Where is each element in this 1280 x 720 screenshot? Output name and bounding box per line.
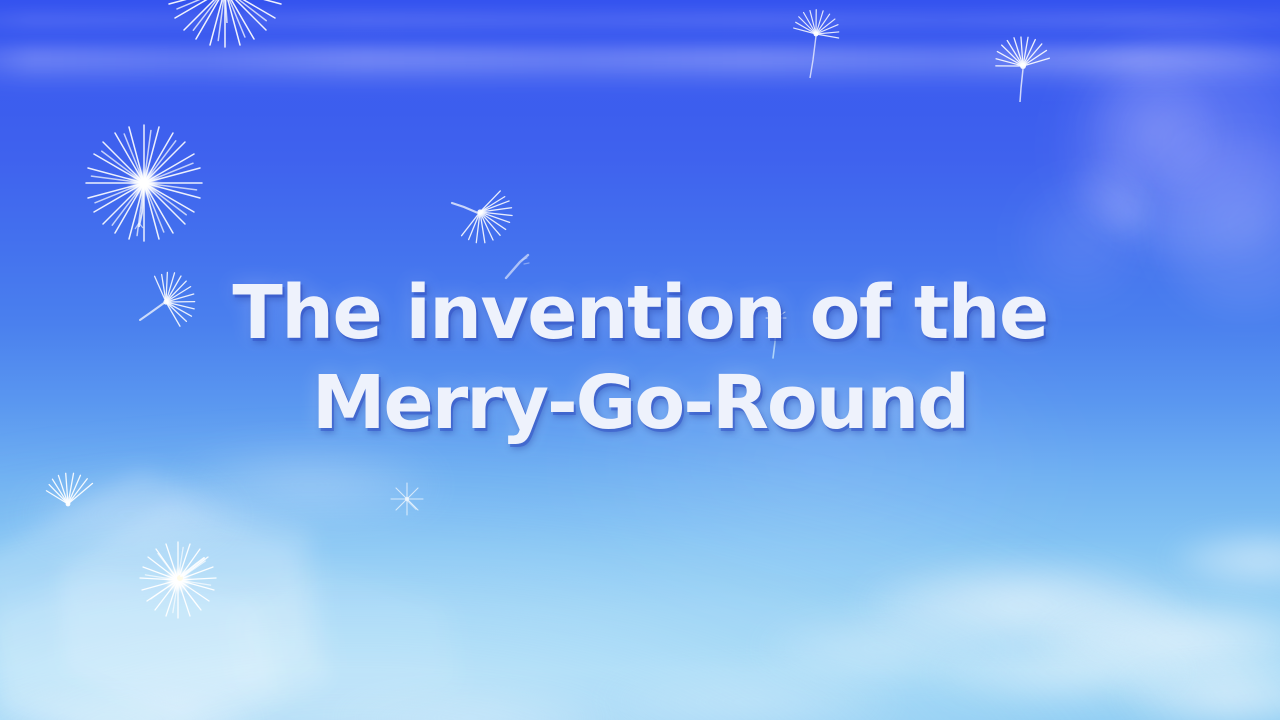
sky-bottom-haze [0, 360, 1280, 720]
horizontal-lens-flare-streak [0, 72, 1280, 86]
horizontal-lens-flare-streak [0, 46, 1280, 72]
title-card-scene: The invention of the Merry-Go-Round [0, 0, 1280, 720]
horizontal-lens-flare-streak [0, 12, 1280, 28]
